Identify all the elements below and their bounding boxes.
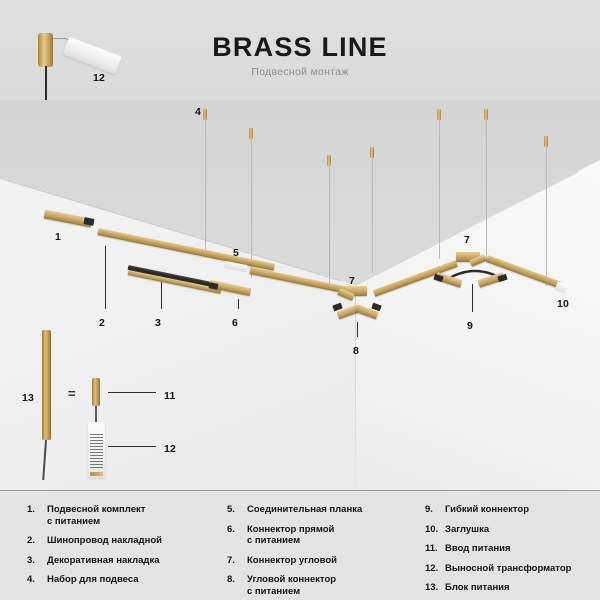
legend-item-label: Декоративная накладка (47, 555, 160, 567)
legend-item-label: Заглушка (445, 524, 489, 536)
legend-item: 5.Соединительная планка (227, 504, 417, 516)
transformer-brass-base (90, 472, 103, 476)
legend-item-number: 5. (227, 504, 247, 516)
transformer-cylinder-illustration (38, 33, 53, 67)
legend-item: 2.Шинопровод накладной (27, 535, 227, 547)
callout-number-10: 10 (557, 298, 569, 310)
transformer-fins (90, 434, 103, 468)
legend-item-label: Соединительная планка (247, 504, 362, 516)
leader-line-3 (161, 282, 162, 309)
product-diagram-page: BRASS LINE Подвесной монтаж (0, 0, 600, 600)
legend-item-number: 2. (27, 535, 47, 547)
legend-panel: 1.Подвесной комплект с питанием2.Шинопро… (0, 490, 600, 600)
legend-item-number: 9. (425, 504, 445, 516)
legend-column-1: 1.Подвесной комплект с питанием2.Шинопро… (27, 504, 227, 594)
legend-item: 12.Выносной трансформатор (425, 563, 600, 575)
power-supply-bar (42, 330, 51, 440)
legend-item-number: 10. (425, 524, 445, 536)
legend-item: 10.Заглушка (425, 524, 600, 536)
legend-item: 3.Декоративная накладка (27, 555, 227, 567)
callout-number-3: 3 (155, 317, 161, 329)
suspension-cable (486, 119, 487, 262)
callout-number-9: 9 (467, 320, 473, 332)
legend-item-number: 3. (27, 555, 47, 567)
legend-item: 6.Коннектор прямой с питанием (227, 524, 417, 547)
page-subtitle: Подвесной монтаж (0, 66, 600, 78)
legend-item-label: Блок питания (445, 582, 510, 594)
legend-divider (0, 490, 600, 491)
callout-number-12-top: 12 (93, 72, 105, 84)
legend-item-label: Ввод питания (445, 543, 511, 555)
suspension-cable (251, 138, 252, 278)
leader-line-8 (357, 322, 358, 337)
callout-number-7b: 7 (464, 234, 470, 246)
legend-item-label: Гибкий коннектор (445, 504, 529, 516)
leader-line-11 (108, 392, 156, 393)
header-banner: BRASS LINE Подвесной монтаж (0, 0, 600, 100)
callout-number-4: 4 (195, 106, 201, 118)
legend-item-number: 4. (27, 574, 47, 586)
suspension-cable (372, 157, 373, 273)
callout-number-8: 8 (353, 345, 359, 357)
legend-item-label: Выносной трансформатор (445, 563, 571, 575)
legend-item: 13.Блок питания (425, 582, 600, 594)
legend-item-label: Шинопровод накладной (47, 535, 162, 547)
room-corner-edge (355, 285, 356, 490)
callout-number-11: 11 (164, 390, 176, 402)
legend-item-number: 11. (425, 543, 445, 555)
suspension-cable (329, 165, 330, 290)
legend-column-3: 9.Гибкий коннектор10.Заглушка11.Ввод пит… (425, 504, 600, 600)
callout-number-7a: 7 (349, 275, 355, 287)
callout-number-12-bottom: 12 (164, 443, 176, 455)
legend-item-number: 8. (227, 574, 247, 597)
legend-column-2: 5.Соединительная планка6.Коннектор прямо… (227, 504, 417, 600)
callout-number-13: 13 (22, 392, 34, 404)
legend-item: 7.Коннектор угловой (227, 555, 417, 567)
legend-item-label: Коннектор прямой с питанием (247, 524, 334, 547)
leader-line-12 (108, 446, 156, 447)
callout-number-1: 1 (55, 231, 61, 243)
legend-item-label: Набор для подвеса (47, 574, 139, 586)
suspension-cable (546, 146, 547, 286)
legend-item-number: 6. (227, 524, 247, 547)
legend-item: 9.Гибкий коннектор (425, 504, 600, 516)
legend-item-number: 1. (27, 504, 47, 527)
remote-transformer-box (88, 422, 105, 478)
power-input-bar (92, 378, 100, 406)
power-input-wire (95, 406, 97, 422)
legend-item-number: 12. (425, 563, 445, 575)
equals-sign: = (68, 386, 76, 401)
callout-number-5: 5 (233, 247, 239, 259)
callout-number-2: 2 (99, 317, 105, 329)
legend-item: 1.Подвесной комплект с питанием (27, 504, 227, 527)
callout-number-6: 6 (232, 317, 238, 329)
legend-item: 4.Набор для подвеса (27, 574, 227, 586)
leader-line-6 (238, 299, 239, 309)
legend-item: 11.Ввод питания (425, 543, 600, 555)
legend-item-label: Подвесной комплект с питанием (47, 504, 145, 527)
legend-item: 8.Угловой коннектор с питанием (227, 574, 417, 597)
leader-line-2 (105, 246, 106, 309)
legend-item-number: 7. (227, 555, 247, 567)
legend-item-label: Коннектор угловой (247, 555, 337, 567)
leader-line-9 (472, 284, 473, 312)
legend-item-label: Угловой коннектор с питанием (247, 574, 336, 597)
suspension-cable (205, 119, 206, 253)
suspension-cable (439, 119, 440, 259)
legend-item-number: 13. (425, 582, 445, 594)
